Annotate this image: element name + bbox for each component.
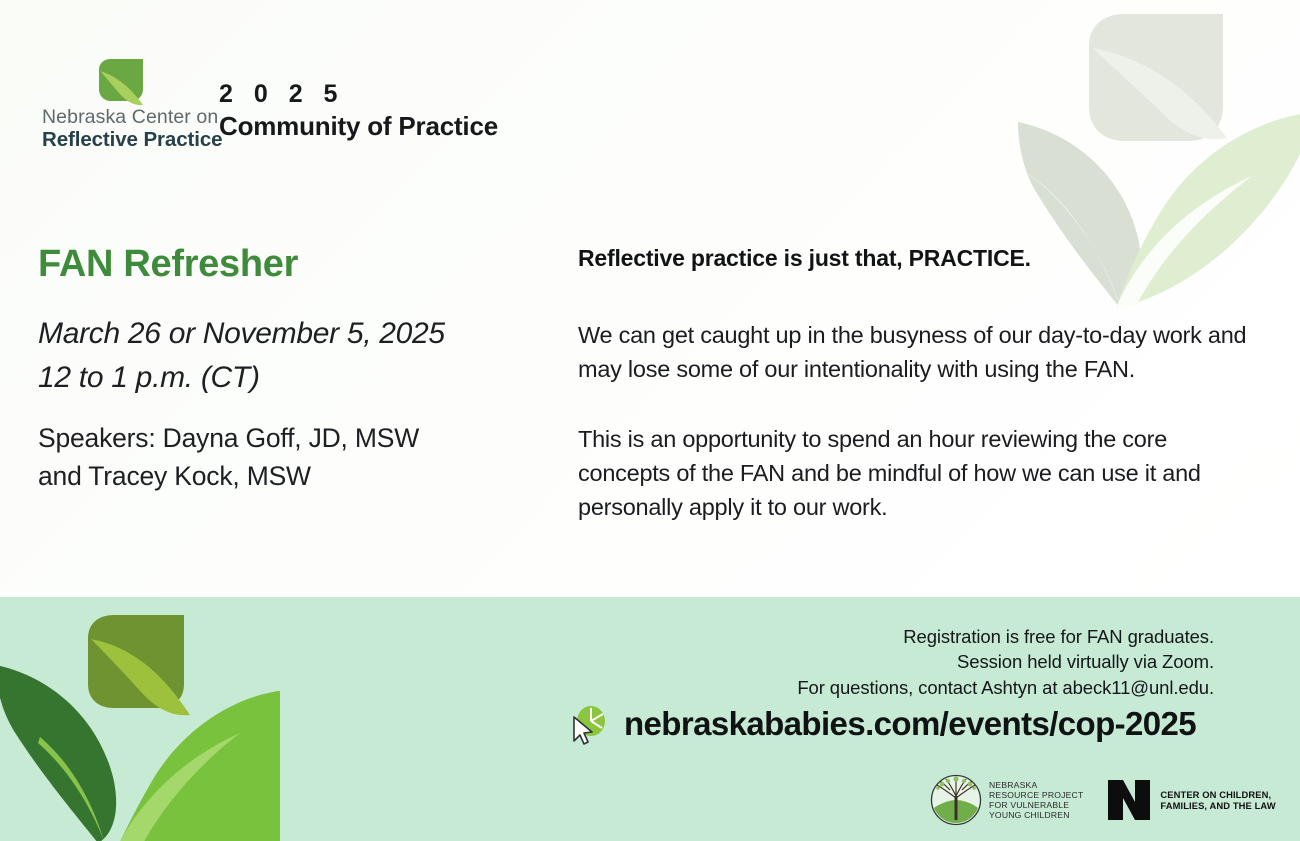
- logo-line-1: Nebraska Center on: [42, 106, 212, 129]
- partner-nrp-label: NEBRASKA RESOURCE PROJECT FOR VULNERABLE…: [989, 780, 1083, 821]
- session-speakers-line-2: and Tracey Kock, MSW: [38, 458, 508, 496]
- decor-leaf-dark-green: [0, 663, 124, 841]
- event-year: 2 0 2 5: [219, 80, 344, 109]
- session-time: 12 to 1 p.m. (CT): [38, 356, 508, 400]
- description-paragraph-2: This is an opportunity to spend an hour …: [578, 422, 1250, 524]
- registration-info: Registration is free for FAN graduates. …: [797, 624, 1214, 700]
- description-paragraph-1: We can get caught up in the busyness of …: [578, 318, 1250, 386]
- event-url-text[interactable]: nebraskababies.com/events/cop-2025: [624, 705, 1196, 743]
- description-lead: Reflective practice is just that, PRACTI…: [578, 244, 1250, 274]
- logo-line-2: Reflective Practice: [42, 128, 217, 152]
- flyer-footer-section: Registration is free for FAN graduates. …: [0, 597, 1300, 841]
- flyer-canvas: Nebraska Center on Reflective Practice 2…: [0, 0, 1300, 841]
- unl-block-n-icon: [1105, 778, 1153, 822]
- registration-line-3: For questions, contact Ashtyn at abeck11…: [797, 675, 1214, 700]
- session-dates: March 26 or November 5, 2025: [38, 312, 508, 356]
- decor-leaf-bright-green: [110, 689, 280, 841]
- partner-nrp: NEBRASKA RESOURCE PROJECT FOR VULNERABLE…: [930, 774, 1083, 826]
- registration-line-2: Session held virtually via Zoom.: [797, 649, 1214, 674]
- partner-ccfl: CENTER ON CHILDREN, FAMILIES, AND THE LA…: [1105, 778, 1275, 822]
- leaf-logo-mark-icon: [97, 58, 145, 106]
- tree-in-circle-seal-icon: [930, 774, 982, 826]
- session-datetime: March 26 or November 5, 2025 12 to 1 p.m…: [38, 312, 508, 399]
- partner-logos: NEBRASKA RESOURCE PROJECT FOR VULNERABLE…: [930, 774, 1276, 826]
- event-url-row[interactable]: nebraskababies.com/events/cop-2025: [568, 703, 1196, 745]
- session-description: Reflective practice is just that, PRACTI…: [578, 244, 1250, 524]
- partner-ccfl-label: CENTER ON CHILDREN, FAMILIES, AND THE LA…: [1160, 789, 1275, 812]
- session-speakers: Speakers: Dayna Goff, JD, MSW and Tracey…: [38, 420, 508, 495]
- brand-logo: Nebraska Center on Reflective Practice: [42, 58, 212, 158]
- registration-line-1: Registration is free for FAN graduates.: [797, 624, 1214, 649]
- flyer-top-section: Nebraska Center on Reflective Practice 2…: [0, 0, 1300, 597]
- session-title: FAN Refresher: [38, 243, 298, 286]
- session-speakers-line-1: Speakers: Dayna Goff, JD, MSW: [38, 420, 508, 458]
- click-cursor-leaf-icon: [568, 703, 610, 745]
- event-title: Community of Practice: [219, 111, 498, 142]
